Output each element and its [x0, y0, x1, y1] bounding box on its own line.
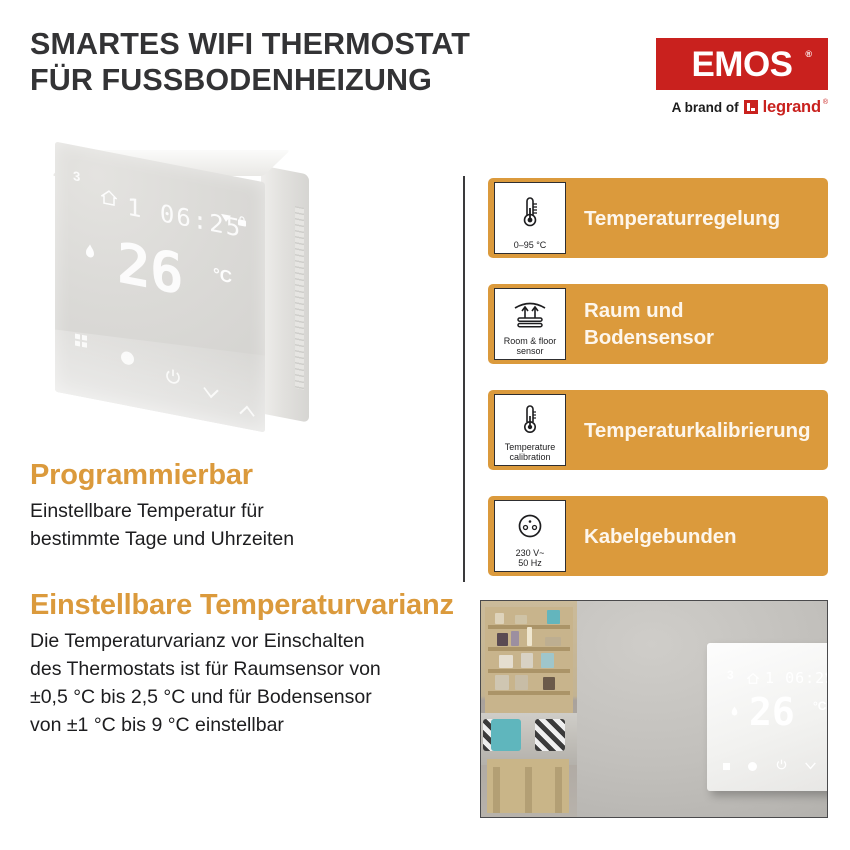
- feature-label: Kabelgebunden: [584, 523, 736, 550]
- page-title-line-2: FÜR FUSSBODENHEIZUNG: [30, 62, 530, 98]
- product-front-panel: 3 1 06:25: [55, 142, 265, 433]
- variance-heading-line-2: Temperaturvarianz: [200, 589, 454, 621]
- home-icon: [101, 189, 117, 212]
- lock-icon: [237, 213, 247, 233]
- flame-icon: [731, 705, 738, 723]
- infographic-page: SMARTES WIFI THERMOSTAT FÜR FUSSBODENHEI…: [0, 0, 850, 850]
- feature-item-temperature-calibration[interactable]: Temperature calibration Temperaturkalibr…: [488, 390, 828, 470]
- feature-item-wired-power[interactable]: 230 V~ 50 Hz Kabelgebunden: [488, 496, 828, 576]
- variance-body-line-1: Die Temperaturvarianz vor Einschalten: [30, 627, 460, 655]
- photo-display-temperature: 26: [749, 693, 795, 731]
- photo-display-time: 06:25: [785, 669, 828, 687]
- photo-display-clock: 1 06:25: [765, 669, 828, 687]
- variance-body: Die Temperaturvarianz vor Einschalten de…: [30, 627, 460, 739]
- feature-label: Raum und Bodensensor: [584, 297, 714, 351]
- variance-heading-line-1: Einstellbare: [30, 589, 192, 621]
- feature-text-programmable: Programmierbar Einstellbare Temperatur f…: [30, 458, 460, 553]
- programmable-body-line-2: bestimmte Tage und Uhrzeiten: [30, 525, 460, 553]
- photo-display-mode-digit: 1: [765, 669, 775, 687]
- feature-icon-box: Temperature calibration: [494, 394, 566, 466]
- feature-label: Temperaturkalibrierung: [584, 417, 810, 444]
- feature-label-line-1: Kabelgebunden: [584, 523, 736, 550]
- feature-icon-caption: Room & floor sensor: [504, 336, 557, 356]
- pillow: [535, 719, 565, 751]
- menu-button[interactable]: [723, 763, 730, 770]
- legrand-brandline: A brand of legrand ®: [656, 98, 828, 116]
- variance-body-line-4: von ±1 °C bis 9 °C einstellbar: [30, 711, 460, 739]
- panel-reflection: [55, 326, 265, 432]
- emos-logo-text: EMOS: [691, 47, 792, 82]
- display-mode-digit: 1: [127, 193, 143, 224]
- brand-prefix-text: A brand of: [672, 100, 739, 115]
- brand-logo-block: EMOS ® A brand of legrand ®: [656, 38, 828, 116]
- photo-status-icons: [824, 667, 828, 685]
- feature-icon-box: 0–95 °C: [494, 182, 566, 254]
- home-icon: [747, 671, 759, 689]
- feature-icon-caption: 0–95 °C: [514, 240, 547, 250]
- floor-sensor-icon: [496, 291, 564, 336]
- wifi-icon: [220, 210, 232, 230]
- product-vents: [295, 206, 304, 390]
- power-icon: [776, 759, 787, 770]
- photo-wall: 3 1 06:25: [577, 601, 827, 817]
- product-side-panel: [261, 165, 309, 422]
- flame-icon: [85, 243, 95, 266]
- legrand-mark-icon: [744, 100, 758, 114]
- page-title: SMARTES WIFI THERMOSTAT FÜR FUSSBODENHEI…: [30, 26, 530, 98]
- thermometer-icon: [496, 397, 564, 442]
- emos-logo: EMOS ®: [656, 38, 828, 90]
- feature-list: 0–95 °C Temperaturregelung: [488, 178, 828, 602]
- coffee-table: [487, 759, 569, 813]
- feature-label-line-1: Temperaturkalibrierung: [584, 417, 810, 444]
- photo-room-scene: [481, 601, 577, 817]
- emos-registered-mark: ®: [805, 49, 812, 59]
- programmable-body-line-1: Einstellbare Temperatur für: [30, 497, 460, 525]
- socket-icon: [496, 503, 564, 548]
- feature-item-temperature-range[interactable]: 0–95 °C Temperaturregelung: [488, 178, 828, 258]
- wall-mounted-thermostat: 3 1 06:25: [707, 643, 828, 791]
- page-title-line-1: SMARTES WIFI THERMOSTAT: [30, 26, 530, 62]
- variance-heading: Einstellbare Temperaturvarianz: [30, 588, 460, 623]
- pillow: [491, 719, 521, 751]
- legrand-logo-text: legrand: [763, 98, 821, 117]
- display-temperature: 26: [117, 236, 182, 305]
- feature-icon-box: 230 V~ 50 Hz: [494, 500, 566, 572]
- wifi-icon: [824, 667, 828, 685]
- display-day: 3: [73, 169, 81, 183]
- feature-label-line-2: Bodensensor: [584, 324, 714, 351]
- product-image: 3 1 06:25: [55, 148, 320, 448]
- photo-display-day: 3: [727, 669, 734, 681]
- variance-body-line-2: des Thermostats ist für Raumsensor von: [30, 655, 460, 683]
- programmable-heading: Programmierbar: [30, 458, 460, 493]
- feature-text-variance: Einstellbare Temperaturvarianz Die Tempe…: [30, 588, 460, 739]
- feature-label: Temperaturregelung: [584, 205, 780, 232]
- set-button[interactable]: [748, 762, 757, 771]
- power-button[interactable]: [776, 757, 787, 775]
- feature-icon-box: Room & floor sensor: [494, 288, 566, 360]
- bookshelf: [485, 607, 573, 717]
- chevron-down-icon: [805, 762, 816, 770]
- legrand-registered-mark: ®: [823, 99, 828, 106]
- programmable-body: Einstellbare Temperatur für bestimmte Ta…: [30, 497, 460, 553]
- vertical-divider: [463, 176, 465, 582]
- thermometer-icon: [496, 185, 564, 240]
- feature-icon-caption: 230 V~ 50 Hz: [516, 548, 545, 568]
- feature-label-line-1: Raum und: [584, 297, 714, 324]
- feature-item-room-floor-sensor[interactable]: Room & floor sensor Raum und Bodensensor: [488, 284, 828, 364]
- photo-button-row: [723, 757, 828, 775]
- decrease-button[interactable]: [805, 757, 816, 775]
- variance-body-line-3: ±0,5 °C bis 2,5 °C und für Bodensensor: [30, 683, 460, 711]
- lifestyle-photo: 3 1 06:25: [480, 600, 828, 818]
- feature-label-line-1: Temperaturregelung: [584, 205, 780, 232]
- display-temperature-unit: °C: [213, 264, 232, 288]
- photo-display-unit: °C: [813, 699, 826, 713]
- feature-icon-caption: Temperature calibration: [505, 442, 556, 462]
